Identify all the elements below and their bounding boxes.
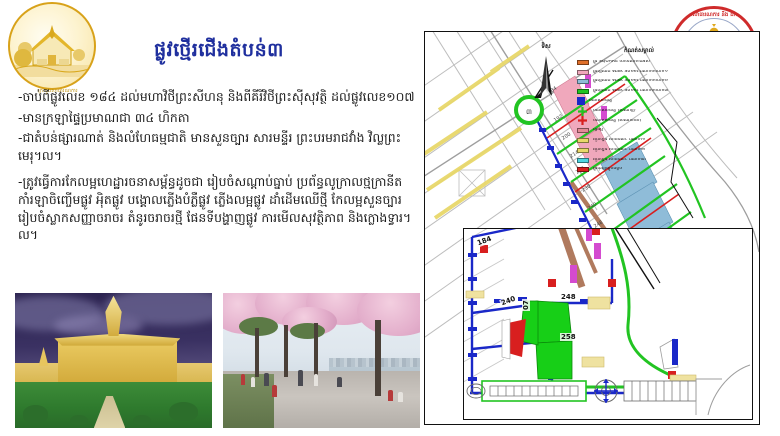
photo-riverside-promenade xyxy=(223,293,420,428)
body-paragraph-3: -ជាតំបន់ផ្សារណាត់ និងលំហែធម្មជាតិ មានសួន… xyxy=(18,129,416,164)
page-title: ផ្លូវថ្មើរជើងតំបន់៣ xyxy=(104,38,334,66)
body-text-block: -ចាប់ពីផ្លូវលេខ ១៨៤ ដល់មហាវិថីព្រះសីហនុ … xyxy=(18,88,416,247)
bush xyxy=(70,415,88,426)
street-number-label: 248 xyxy=(560,293,577,301)
cloud xyxy=(54,315,143,337)
bush xyxy=(133,415,151,426)
legend-label: ចំណតរថយន្ត xyxy=(589,99,612,104)
map-legend: កំណត់សម្គាល់ ផ្លូវ SQUARE ចរាចរណ៍ទាំងអស់… xyxy=(577,47,701,175)
person xyxy=(314,374,318,386)
inset-map-canvas xyxy=(464,229,750,417)
tree-trunk xyxy=(255,328,259,377)
legend-label: សួនច្បារ សាធារណៈ ដំណាក់៣ xyxy=(593,158,646,163)
foliage xyxy=(290,323,325,339)
bush xyxy=(169,402,199,421)
legend-label: សួនច្បារ សាធារណៈ ដំណាក់១ xyxy=(593,138,645,143)
legend-label: ផ្លូវជុំវិញស្តូបស្តេច xyxy=(593,167,622,172)
legend-item-walk-street-phase1[interactable]: ផ្លូវថ្មើរជើង Walk Street ដំណាក់កាលទី១ xyxy=(577,68,701,77)
svg-text:230: 230 xyxy=(581,184,592,194)
legend-label: ចំណតរថយន្ត (សំណើចាស់) xyxy=(593,119,641,124)
legend-item-public-garden-1[interactable]: សួនច្បារ សាធារណៈ ដំណាក់១ xyxy=(577,136,701,145)
legend-item-parking[interactable]: ចំណតរថយន្ត xyxy=(577,97,701,106)
legend-swatch xyxy=(577,138,589,143)
person xyxy=(388,390,393,401)
svg-text:៣: ៣ xyxy=(526,108,532,116)
legend-swatch xyxy=(577,148,589,153)
legend-item-new-market[interactable]: ផ្សារថ្មី xyxy=(577,126,701,135)
north-arrow: ទិស xyxy=(529,42,563,104)
legend-title: កំណត់សម្គាល់ xyxy=(577,47,701,55)
legend-swatch-cross xyxy=(577,118,589,123)
body-paragraph-1: -ចាប់ពីផ្លូវលេខ ១៨៤ ដល់មហាវិថីព្រះសីហនុ … xyxy=(18,88,416,106)
legend-swatch xyxy=(577,128,589,133)
legend-label: ផ្សារថ្មី xyxy=(593,128,603,133)
legend-item-parking-old[interactable]: ចំណតរថយន្ត (សំណើចាស់) xyxy=(577,117,701,126)
compass-label: ទិស xyxy=(529,42,563,51)
person xyxy=(241,374,245,385)
legend-label: ផ្លូវថ្មើរជើង Walk Street ដំណាក់កាលទី១ xyxy=(593,70,668,75)
legend-swatch xyxy=(577,158,589,163)
slide-canvas: ក្រសួងសាធារណការ ក្រសួងសាធារណការ និង ដឹកជ… xyxy=(0,0,780,436)
body-paragraph-2: -មានក្រឡាផ្ទៃប្រមាណជា ៣៤ ហិកតា xyxy=(18,109,416,127)
bush xyxy=(23,405,49,423)
legend-label: ផ្លូវថ្មើរជើង Walk Street ដំណាក់កាលទី២ xyxy=(593,79,668,84)
seal-ring xyxy=(8,2,96,90)
street-number-label: 07 xyxy=(522,299,530,311)
legend-swatch xyxy=(577,79,589,84)
legend-swatch xyxy=(577,89,589,94)
legend-item-walk-street-phase2[interactable]: ផ្លូវថ្មើរជើង Walk Street ដំណាក់កាលទី២ xyxy=(577,78,701,87)
legend-label: ចំណតរថយន្ត (សំណើថ្មី) xyxy=(593,109,636,114)
legend-item-walk-street-phase3[interactable]: ផ្លូវថ្មើរជើង Walk Street ដំណាក់កាលទី៣ xyxy=(577,87,701,96)
tree-trunk xyxy=(314,323,319,380)
legend-swatch xyxy=(577,167,589,172)
legend-label: ផ្លូវ SQUARE ចរាចរណ៍ទាំងអស់ xyxy=(593,60,650,65)
tree-trunk xyxy=(284,325,288,376)
legend-swatch xyxy=(577,70,589,75)
compass-needle-icon xyxy=(529,56,563,104)
legend-item-stupa-ring-road[interactable]: ផ្លូវជុំវិញស្តូបស្តេច xyxy=(577,166,701,175)
legend-swatch-diamond xyxy=(577,97,585,105)
map-canvas: ៣ 184 192 200 214 222 230 240 248 258 xyxy=(425,32,759,424)
street-number-label: 258 xyxy=(560,333,577,341)
map-panel[interactable]: ៣ 184 192 200 214 222 230 240 248 258 xyxy=(424,31,760,425)
person xyxy=(272,385,277,397)
temple-icon xyxy=(15,25,89,77)
person xyxy=(298,370,303,386)
seal-khmer-text: ក្រសួងសាធារណការ និង ដឹកជញ្ជូន xyxy=(673,11,755,19)
legend-label: សួនច្បារ សាធារណៈ ដំណាក់២ xyxy=(593,148,645,153)
tree-trunk xyxy=(375,320,382,396)
palace-building xyxy=(58,342,176,383)
legend-item-parking-new[interactable]: ចំណតរថយន្ត (សំណើថ្មី) xyxy=(577,107,701,116)
inset-detail-map[interactable]: 184 240 248 258 07 xyxy=(463,228,753,420)
person xyxy=(264,373,268,387)
legend-label: ផ្លូវថ្មើរជើង Walk Street ដំណាក់កាលទី៣ xyxy=(593,89,668,94)
person xyxy=(337,377,341,388)
legend-swatch xyxy=(577,60,589,65)
person xyxy=(251,377,255,388)
photo-royal-palace xyxy=(15,293,212,428)
legend-item-public-garden-3[interactable]: សួនច្បារ សាធារណៈ ដំណាក់៣ xyxy=(577,156,701,165)
royal-palace-gold-seal xyxy=(8,2,96,90)
legend-item-square-road[interactable]: ផ្លូវ SQUARE ចរាចរណ៍ទាំងអស់ xyxy=(577,58,701,67)
legend-item-public-garden-2[interactable]: សួនច្បារ សាធារណៈ ដំណាក់២ xyxy=(577,146,701,155)
legend-swatch-cross xyxy=(577,109,589,114)
person xyxy=(398,392,403,403)
body-paragraph-4: -ត្រូវធ្វើការកែលម្អហេដ្ឋារចនាសម្ព័ន្ធដូច… xyxy=(18,173,416,243)
